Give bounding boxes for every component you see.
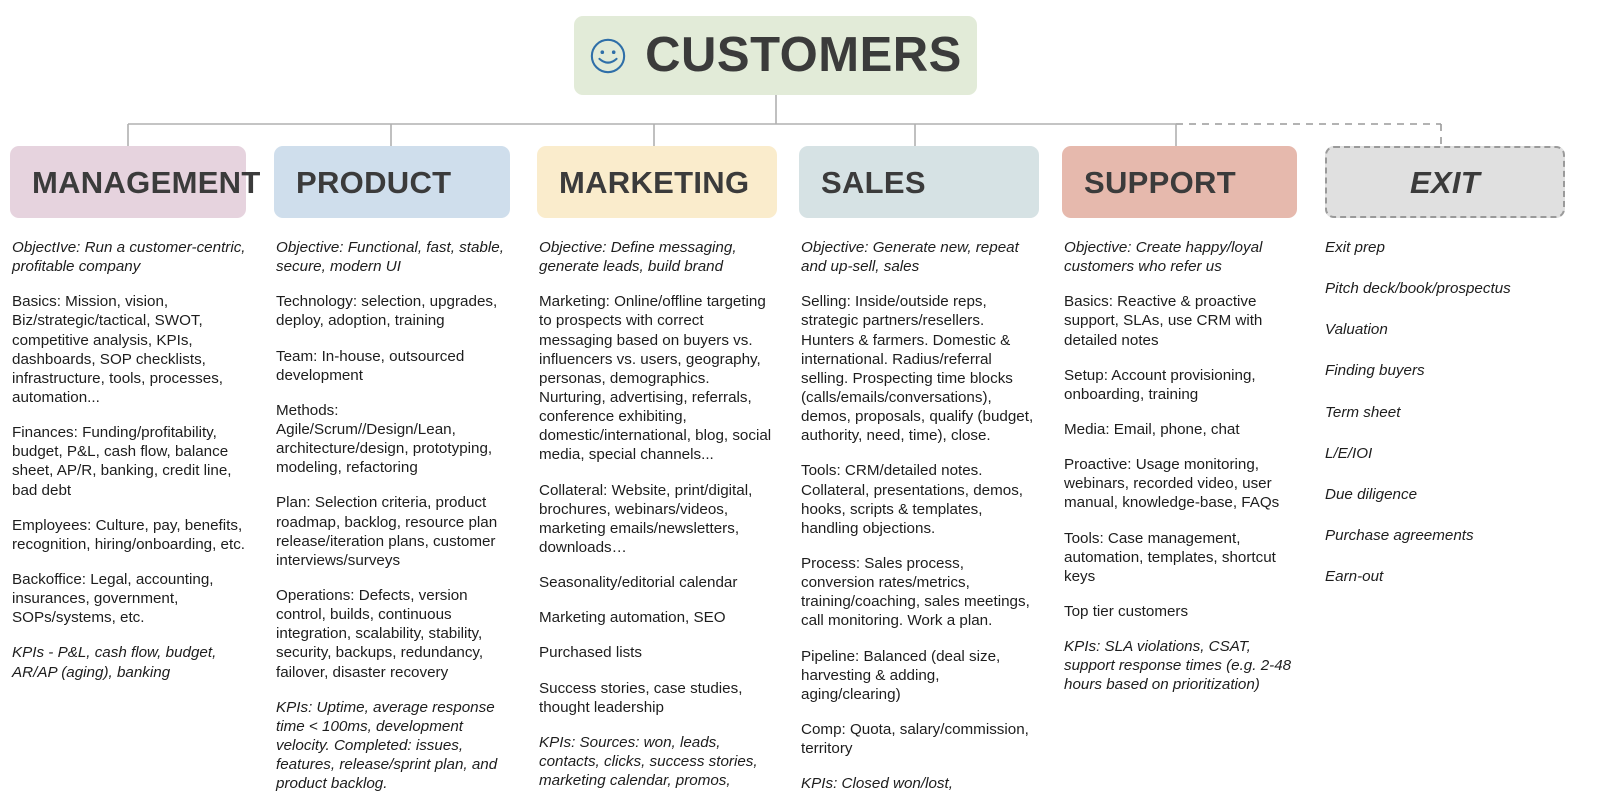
text-block: Plan: Selection criteria, product roadma… (274, 493, 510, 570)
column-body-support: Objective: Create happy/loyal customers … (1062, 218, 1297, 695)
text-block: Selling: Inside/outside reps, strategic … (799, 292, 1039, 445)
text-block: Basics: Mission, vision, Biz/strategic/t… (10, 292, 246, 407)
column-management: MANAGEMENT ObjectIve: Run a customer-cen… (10, 146, 246, 698)
text-block: Marketing automation, SEO (537, 608, 777, 627)
text-block: Proactive: Usage monitoring, webinars, r… (1062, 455, 1297, 512)
text-block: Objective: Generate new, repeat and up-s… (799, 238, 1039, 276)
text-block: Tools: CRM/detailed notes. Collateral, p… (799, 461, 1039, 538)
column-title-product: PRODUCT (296, 167, 451, 198)
text-block: KPIs: SLA violations, CSAT, support resp… (1062, 637, 1297, 694)
text-block: Finances: Funding/profitability, budget,… (10, 423, 246, 500)
text-block: Backoffice: Legal, accounting, insurance… (10, 570, 246, 627)
text-block: Basics: Reactive & proactive support, SL… (1062, 292, 1297, 349)
column-body-marketing: Objective: Define messaging, generate le… (537, 218, 777, 791)
text-block: Methods: Agile/Scrum//Design/Lean, archi… (274, 401, 510, 478)
list-item: Finding buyers (1325, 361, 1565, 380)
text-block: Marketing: Online/offline targeting to p… (537, 292, 777, 464)
text-block: Team: In-house, outsourced development (274, 347, 510, 385)
column-header-management[interactable]: MANAGEMENT (10, 146, 246, 218)
text-block: Seasonality/editorial calendar (537, 573, 777, 592)
text-block: Process: Sales process, conversion rates… (799, 554, 1039, 631)
column-header-sales[interactable]: SALES (799, 146, 1039, 218)
diagram-canvas: CUSTOMERS MANAGEMENT ObjectIve: Run a cu… (0, 0, 1600, 791)
text-block: Success stories, case studies, thought l… (537, 679, 777, 717)
list-item: L/E/IOI (1325, 444, 1565, 463)
smiley-face-icon (589, 37, 627, 75)
root-node-title: CUSTOMERS (645, 31, 962, 80)
text-block: Pipeline: Balanced (deal size, harvestin… (799, 647, 1039, 704)
text-block: ObjectIve: Run a customer-centric, profi… (10, 238, 246, 276)
column-header-marketing[interactable]: MARKETING (537, 146, 777, 218)
list-item: Due diligence (1325, 485, 1565, 504)
column-title-marketing: MARKETING (559, 167, 749, 198)
text-block: Employees: Culture, pay, benefits, recog… (10, 516, 246, 554)
text-block: Operations: Defects, version control, bu… (274, 586, 510, 682)
list-item: Exit prep (1325, 238, 1565, 257)
text-block: Purchased lists (537, 643, 777, 662)
list-item: Purchase agreements (1325, 526, 1565, 545)
text-block: Comp: Quota, salary/commission, territor… (799, 720, 1039, 758)
column-title-management: MANAGEMENT (32, 167, 261, 198)
text-block: Technology: selection, upgrades, deploy,… (274, 292, 510, 330)
text-block: KPIs: Closed won/lost, calls/emails, con… (799, 774, 1039, 791)
root-node-customers[interactable]: CUSTOMERS (574, 16, 977, 95)
text-block: Collateral: Website, print/digital, broc… (537, 481, 777, 558)
list-item: Valuation (1325, 320, 1565, 339)
column-body-management: ObjectIve: Run a customer-centric, profi… (10, 218, 246, 682)
text-block: Setup: Account provisioning, onboarding,… (1062, 366, 1297, 404)
text-block: KPIs - P&L, cash flow, budget, AR/AP (ag… (10, 643, 246, 681)
text-block: Objective: Functional, fast, stable, sec… (274, 238, 510, 276)
column-body-sales: Objective: Generate new, repeat and up-s… (799, 218, 1039, 791)
column-title-exit: EXIT (1410, 167, 1480, 198)
column-product: PRODUCT Objective: Functional, fast, sta… (274, 146, 510, 791)
column-marketing: MARKETING Objective: Define messaging, g… (537, 146, 777, 791)
text-block: Media: Email, phone, chat (1062, 420, 1297, 439)
text-block: KPIs: Sources: won, leads, contacts, cli… (537, 733, 777, 791)
column-support: SUPPORT Objective: Create happy/loyal cu… (1062, 146, 1297, 711)
text-block: Objective: Define messaging, generate le… (537, 238, 777, 276)
column-body-product: Objective: Functional, fast, stable, sec… (274, 218, 510, 791)
text-block: Top tier customers (1062, 602, 1297, 621)
column-title-support: SUPPORT (1084, 167, 1236, 198)
column-header-product[interactable]: PRODUCT (274, 146, 510, 218)
column-header-support[interactable]: SUPPORT (1062, 146, 1297, 218)
text-block: KPIs: Uptime, average response time < 10… (274, 698, 510, 791)
text-block: Objective: Create happy/loyal customers … (1062, 238, 1297, 276)
list-item: Earn-out (1325, 567, 1565, 586)
text-block: Tools: Case management, automation, temp… (1062, 529, 1297, 586)
column-title-sales: SALES (821, 167, 926, 198)
column-exit: EXIT Exit prep Pitch deck/book/prospectu… (1325, 146, 1565, 608)
column-body-exit: Exit prep Pitch deck/book/prospectus Val… (1325, 218, 1565, 586)
list-item: Pitch deck/book/prospectus (1325, 279, 1565, 298)
list-item: Term sheet (1325, 403, 1565, 422)
column-sales: SALES Objective: Generate new, repeat an… (799, 146, 1039, 791)
column-header-exit[interactable]: EXIT (1325, 146, 1565, 218)
